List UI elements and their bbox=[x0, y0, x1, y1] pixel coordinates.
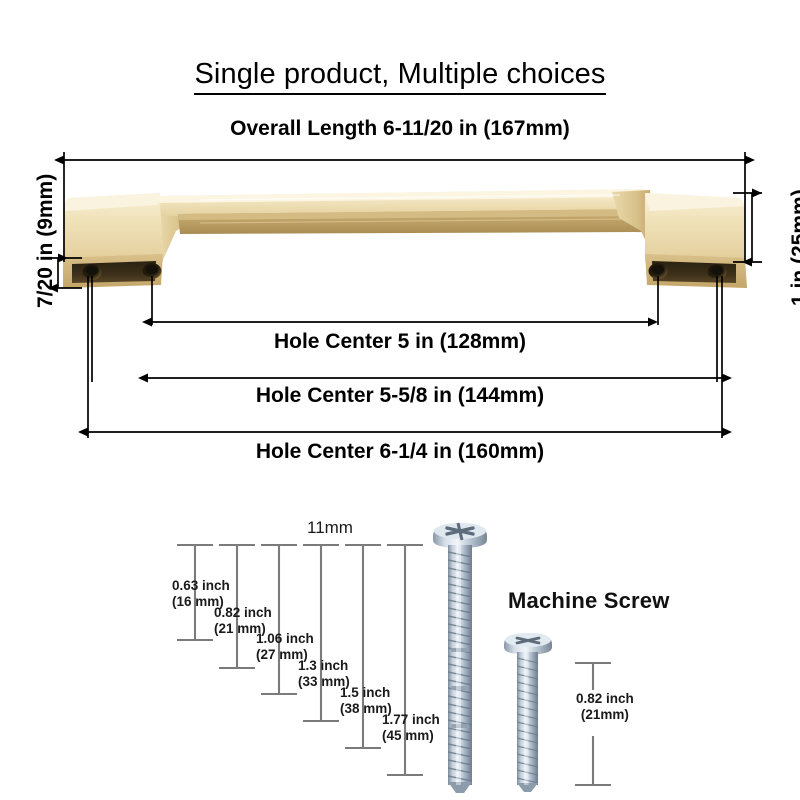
machine-screw-illustration bbox=[504, 633, 552, 792]
screw-length-1-inch: 0.63 inch bbox=[172, 578, 230, 594]
diagram-canvas bbox=[0, 0, 800, 800]
product-dimension-diagram: Single product, Multiple choices Overall… bbox=[0, 0, 800, 800]
screw-length-label-6: 1.77 inch (45 mm) bbox=[382, 712, 440, 743]
machine-screw-dimension-label: 0.82 inch (21mm) bbox=[576, 691, 634, 722]
machine-screw-label: Machine Screw bbox=[508, 588, 670, 614]
machine-screw-dimension-mm: (21mm) bbox=[576, 707, 634, 723]
screw-length-4-inch: 1.3 inch bbox=[298, 658, 350, 674]
cabinet-handle-illustration bbox=[63, 189, 747, 288]
screw-length-2-inch: 0.82 inch bbox=[214, 605, 272, 621]
screw-width-label: 11mm bbox=[307, 518, 353, 538]
machine-screw-length-bracket bbox=[575, 663, 611, 785]
screw-length-6-inch: 1.77 inch bbox=[382, 712, 440, 728]
machine-screw-dimension-inch: 0.82 inch bbox=[576, 691, 634, 707]
screw-length-3-inch: 1.06 inch bbox=[256, 631, 314, 647]
screw-length-6-mm: (45 mm) bbox=[382, 728, 440, 744]
breakaway-screw-illustration bbox=[433, 523, 487, 793]
screw-length-5-inch: 1.5 inch bbox=[340, 685, 392, 701]
